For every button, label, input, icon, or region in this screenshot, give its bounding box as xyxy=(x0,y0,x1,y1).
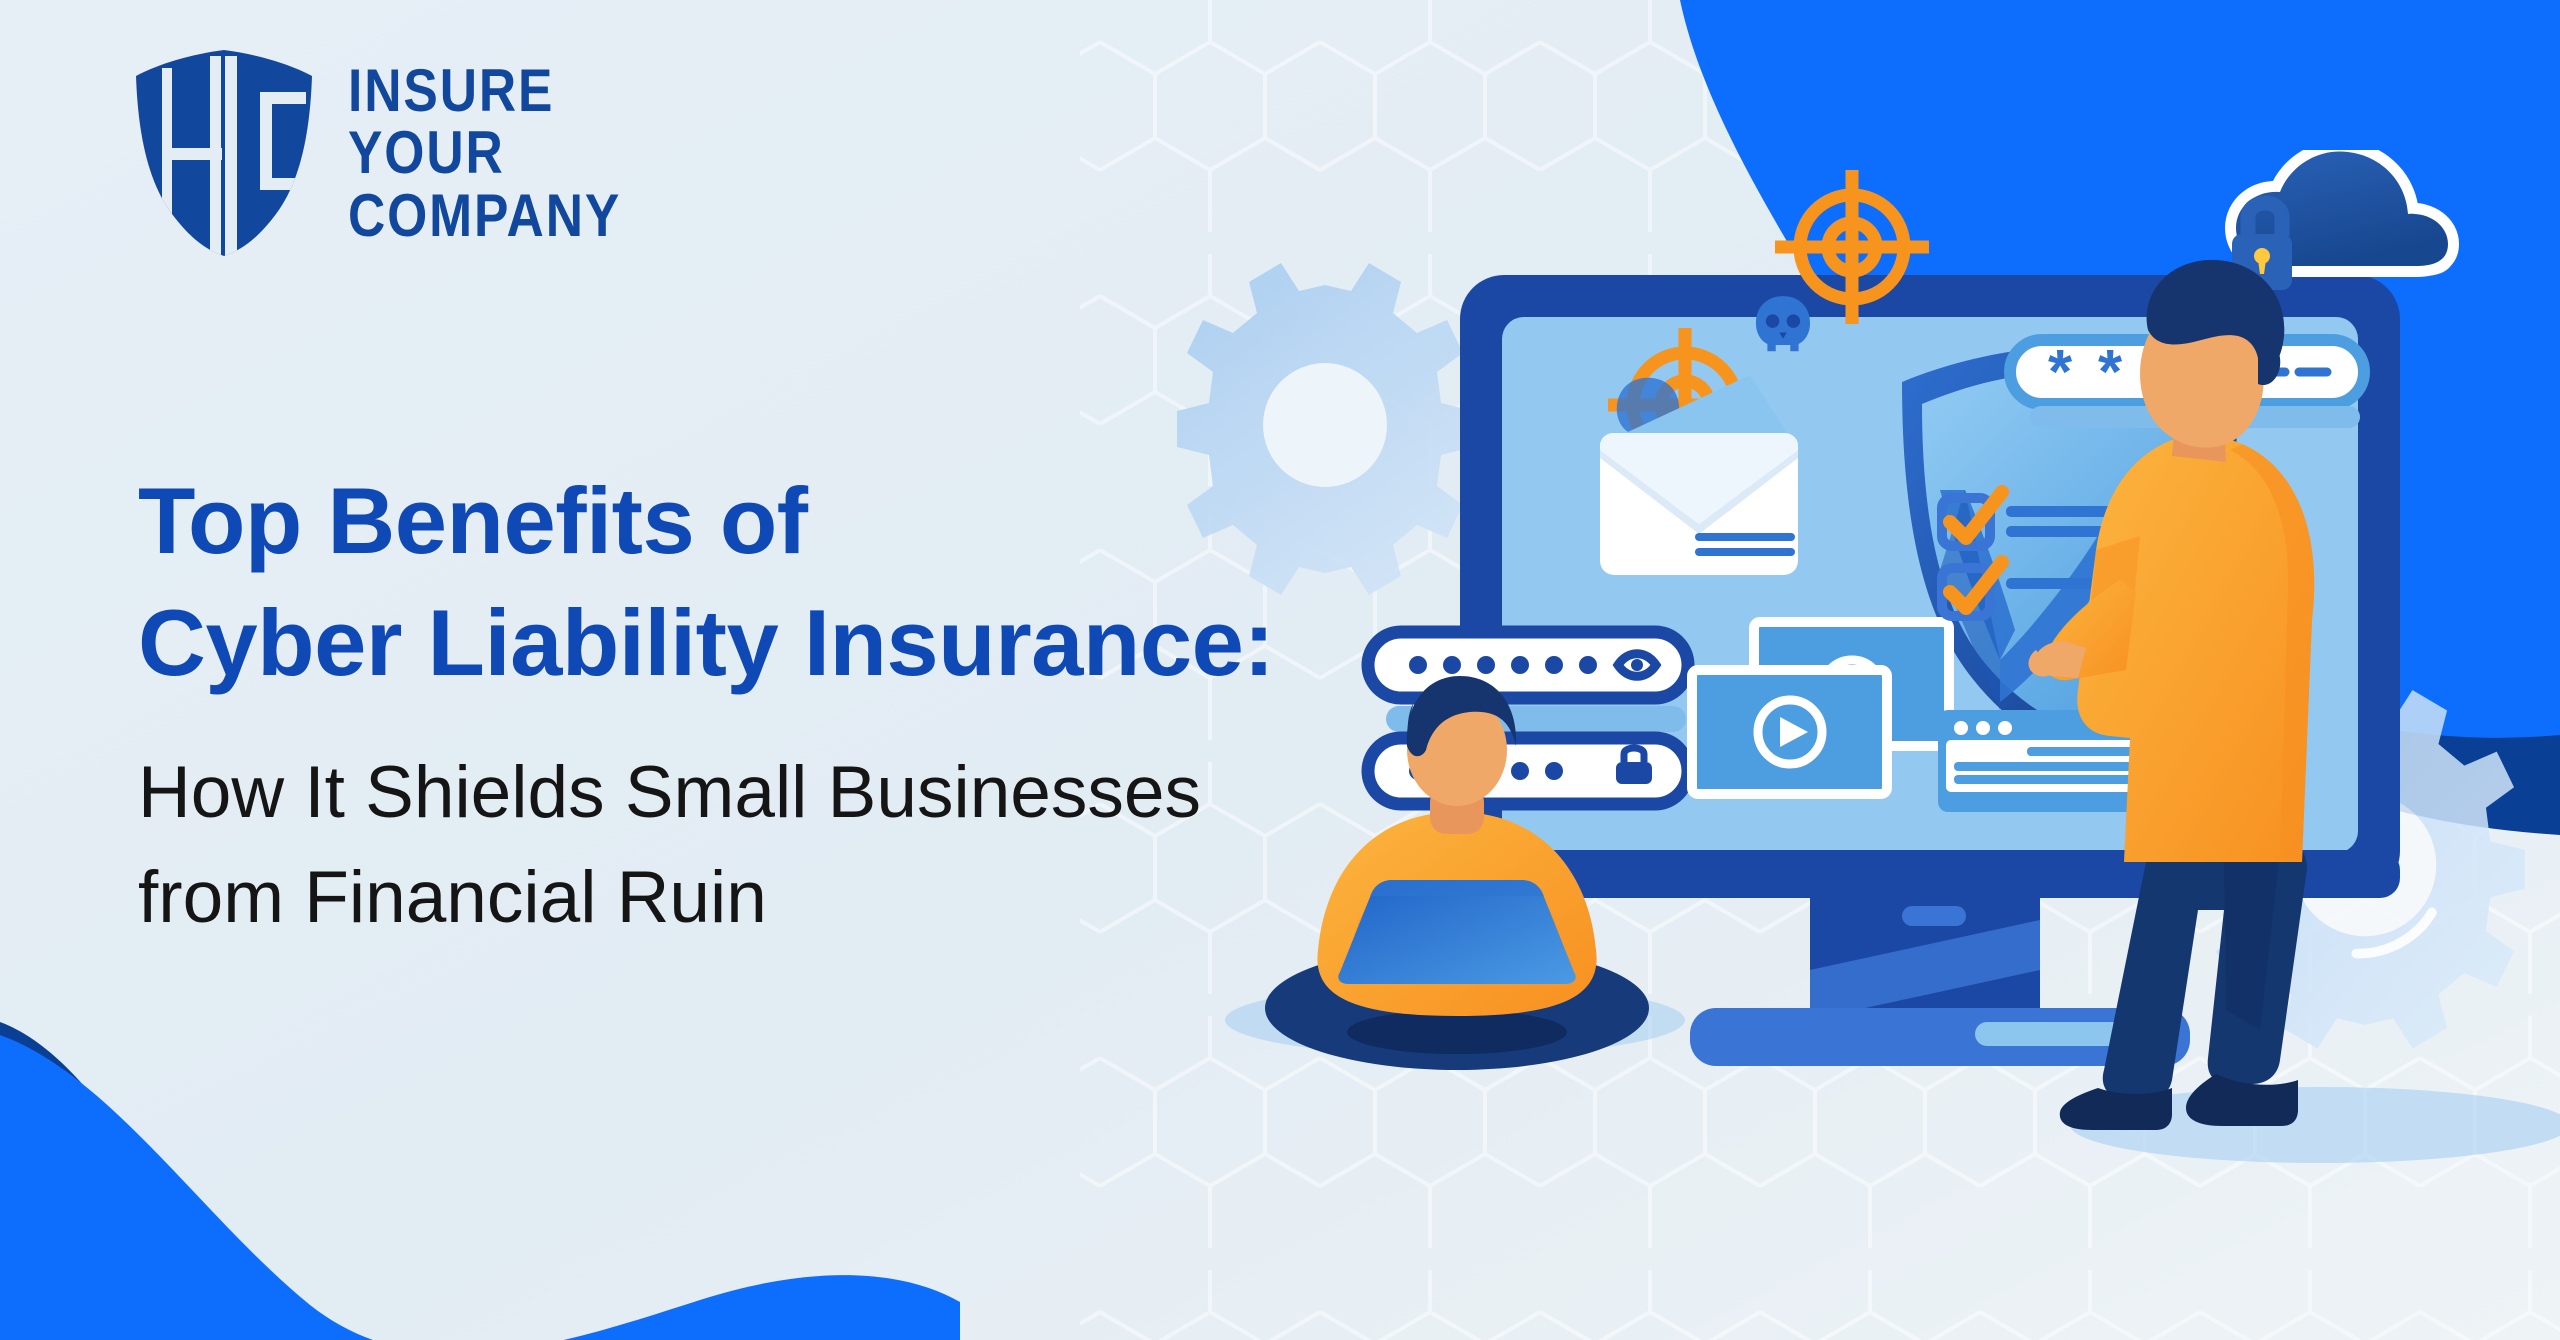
background-gear-large-left xyxy=(1177,263,1473,595)
cloud-with-padlock xyxy=(2232,151,2454,290)
cyber-security-illustration: * * * xyxy=(1130,150,2560,1200)
brand-name-line-1: INSURE xyxy=(348,62,621,120)
brand-name-line-3: COMPANY xyxy=(348,187,621,245)
media-card-play xyxy=(1692,670,1887,794)
password-field-eye[interactable] xyxy=(1368,632,1688,698)
brand-wordmark: INSURE YOUR COMPANY xyxy=(348,62,666,245)
monitor-chin-notch xyxy=(1902,906,1966,926)
svg-text:*: * xyxy=(2098,338,2123,407)
svg-text:*: * xyxy=(2048,338,2073,407)
brand-logo[interactable]: INSURE YOUR COMPANY xyxy=(132,48,666,258)
brand-name-line-2: YOUR xyxy=(348,124,621,182)
iyc-shield-logo-icon xyxy=(132,48,316,258)
poster-canvas: INSURE YOUR COMPANY Top Benefits of Cybe… xyxy=(0,0,2560,1340)
